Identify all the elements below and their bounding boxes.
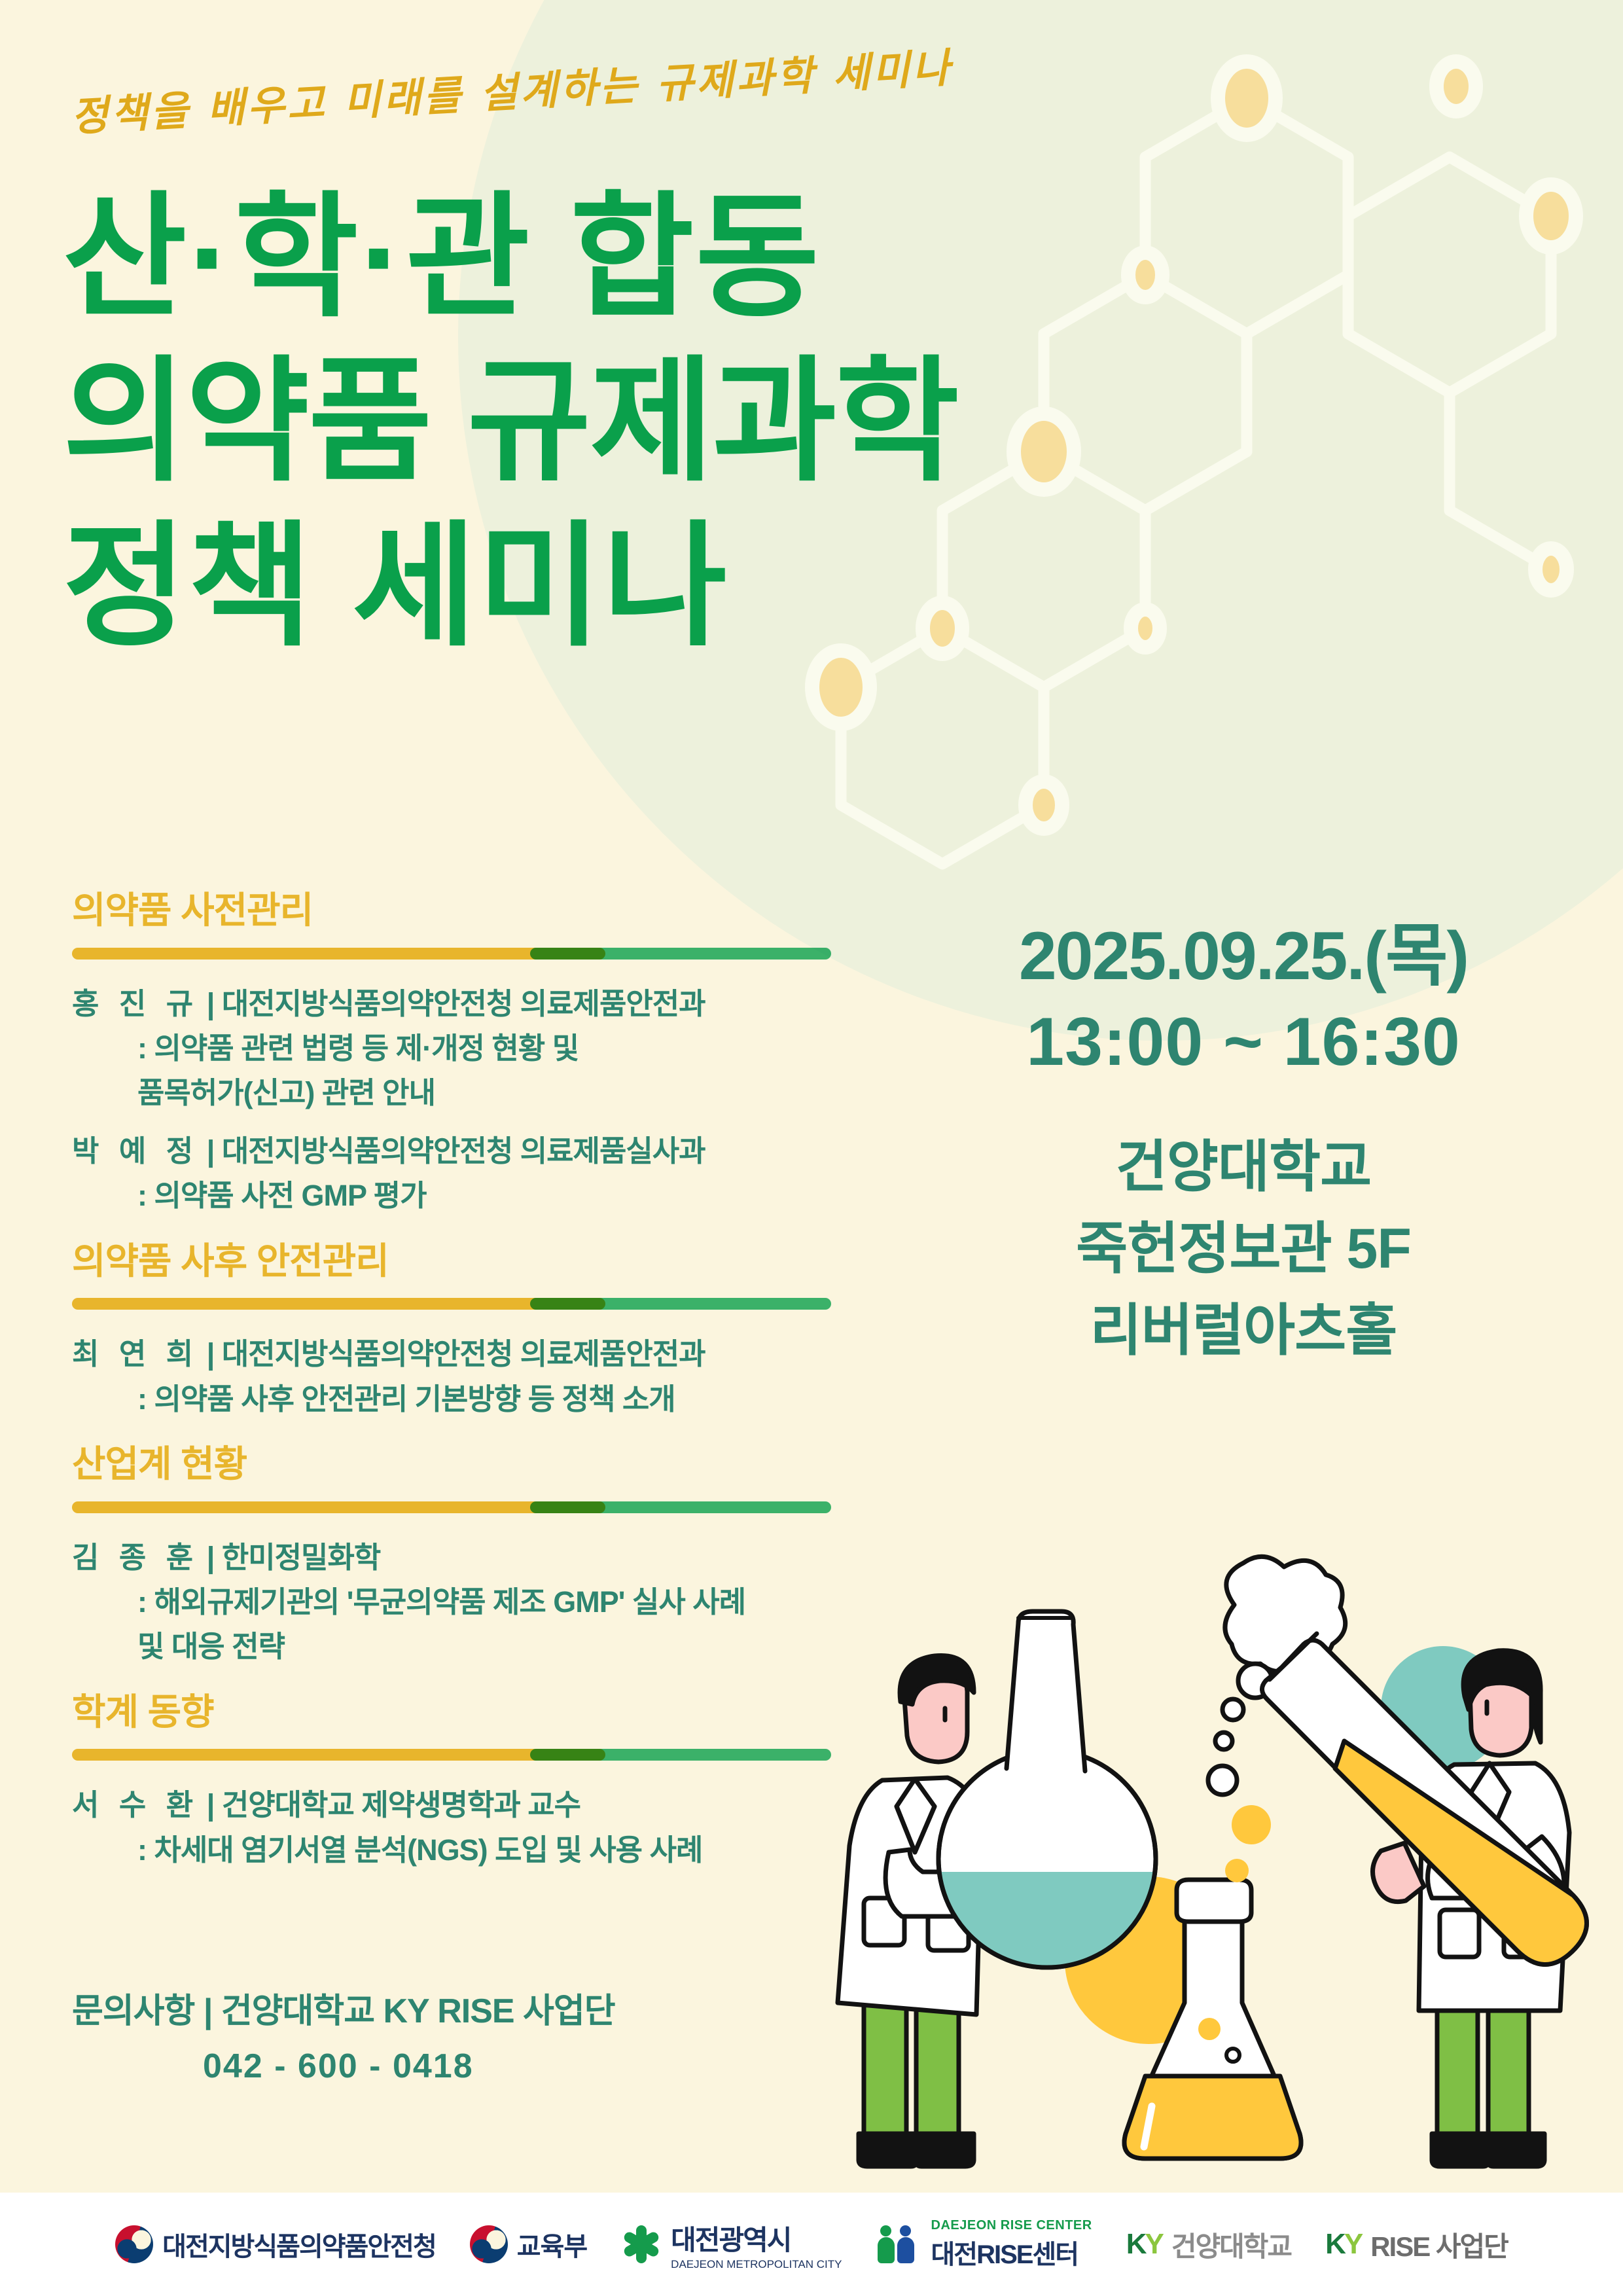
logo-kfda-label: 대전지방식품의약품안전청: [162, 2225, 436, 2263]
program-section-heading: 학계 동향: [72, 1692, 883, 1732]
program-section-heading: 산업계 현황: [72, 1444, 883, 1484]
logo-kfda: 대전지방식품의약품안전청: [115, 2225, 436, 2263]
contact-organization: 건양대학교 KY RISE 사업단: [221, 1992, 615, 2030]
program-talk: 박 예 정 | 대전지방식품의약안전청 의료제품실사과: 의약품 사전 GMP …: [72, 1129, 883, 1219]
venue-line-1: 건양대학교: [910, 1126, 1577, 1208]
talk-subject-line: : 의약품 사후 안전관리 기본방향 등 정책 소개: [72, 1377, 883, 1422]
footer-logo-bar: 대전지방식품의약품안전청 교육부 대전광역시 DAEJEON METROPOLI…: [0, 2193, 1623, 2296]
logo-ky-label: 건양대학교: [1171, 2225, 1291, 2265]
logo-konyang-university: KY 건양대학교: [1126, 2225, 1291, 2265]
ky-icon: KY: [1325, 2228, 1361, 2261]
venue-line-2: 죽헌정보관 5F: [910, 1208, 1577, 1290]
logo-daejeon-subtitle: DAEJEON METROPOLITAN CITY: [671, 2258, 842, 2271]
program-talk: 최 연 희 | 대전지방식품의약안전청 의료제품안전과: 의약품 사후 안전관리…: [72, 1332, 883, 1422]
logo-kyrise-label: RISE 사업단: [1370, 2225, 1508, 2265]
contact-separator: |: [204, 1992, 213, 2030]
talk-affiliation: 한미정밀화학: [222, 1541, 380, 1574]
talk-affiliation: 건양대학교 제약생명학과 교수: [222, 1788, 580, 1821]
program-section: 산업계 현황김 종 훈 | 한미정밀화학: 해외규제기관의 '무균의약품 제조 …: [72, 1444, 883, 1670]
talk-separator: |: [207, 1788, 215, 1821]
talk-speaker-line: 서 수 환 | 건양대학교 제약생명학과 교수: [72, 1783, 883, 1827]
logo-ky-rise-project: KY RISE 사업단: [1325, 2225, 1508, 2265]
talk-speaker-line: 최 연 희 | 대전지방식품의약안전청 의료제품안전과: [72, 1332, 883, 1376]
talk-subject-line: : 해외규제기관의 '무균의약품 제조 GMP' 실사 사례: [72, 1580, 883, 1624]
page-title: 산·학·관 합동 의약품 규제과학 정책 세미나: [63, 175, 958, 669]
event-venue: 건양대학교 죽헌정보관 5F 리버럴아츠홀: [910, 1126, 1577, 1371]
logo-rise-label: 대전RISE센터: [931, 2233, 1092, 2271]
poster-root: 정책을 배우고 미래를 설계하는 규제과학 세미나 산·학·관 합동 의약품 규…: [0, 0, 1623, 2296]
talk-separator: |: [207, 1337, 215, 1371]
talk-affiliation: 대전지방식품의약안전청 의료제품실사과: [222, 1134, 705, 1168]
program-section-heading: 의약품 사후 안전관리: [72, 1241, 883, 1282]
program-talk: 김 종 훈 | 한미정밀화학: 해외규제기관의 '무균의약품 제조 GMP' 실…: [72, 1535, 883, 1670]
talk-subject-line: : 의약품 사전 GMP 평가: [72, 1174, 883, 1218]
talk-speaker-name: 박 예 정: [72, 1134, 199, 1168]
talk-subject-line: 품목허가(신고) 관련 안내: [72, 1071, 883, 1115]
logo-daejeon-label: 대전광역시: [671, 2218, 842, 2258]
tagline: 정책을 배우고 미래를 설계하는 규제과학 세미나: [69, 35, 954, 143]
section-divider: [72, 1501, 831, 1513]
program-section: 의약품 사전관리홍 진 규 | 대전지방식품의약안전청 의료제품안전과: 의약품…: [72, 890, 883, 1219]
talk-affiliation: 대전지방식품의약안전청 의료제품안전과: [222, 1337, 705, 1371]
talk-affiliation: 대전지방식품의약안전청 의료제품안전과: [222, 987, 705, 1020]
logo-rise-subtitle: DAEJEON RISE CENTER: [931, 2218, 1092, 2233]
program-talk: 서 수 환 | 건양대학교 제약생명학과 교수: 차세대 염기서열 분석(NGS…: [72, 1783, 883, 1873]
program-list: 의약품 사전관리홍 진 규 | 대전지방식품의약안전청 의료제품안전과: 의약품…: [72, 890, 883, 1895]
section-divider: [72, 1749, 831, 1761]
taegeuk-icon: [470, 2225, 508, 2263]
logo-moe-label: 교육부: [517, 2225, 587, 2263]
logo-rise-text: DAEJEON RISE CENTER 대전RISE센터: [931, 2218, 1092, 2271]
title-line-3: 정책 세미나: [63, 505, 958, 669]
talk-separator: |: [207, 1541, 215, 1574]
taegeuk-icon: [115, 2225, 153, 2263]
talk-speaker-name: 서 수 환: [72, 1788, 199, 1821]
logo-moe: 교육부: [470, 2225, 587, 2263]
talk-speaker-line: 박 예 정 | 대전지방식품의약안전청 의료제품실사과: [72, 1129, 883, 1174]
talk-separator: |: [207, 987, 215, 1020]
talk-subject-line: : 차세대 염기서열 분석(NGS) 도입 및 사용 사례: [72, 1828, 883, 1873]
event-info: 2025.09.25.(목) 13:00 ~ 16:30 건양대학교 죽헌정보관…: [910, 916, 1577, 1372]
event-date: 2025.09.25.(목): [910, 916, 1577, 997]
rise-people-icon: [876, 2225, 922, 2263]
program-section: 의약품 사후 안전관리최 연 희 | 대전지방식품의약안전청 의료제품안전과: …: [72, 1241, 883, 1422]
talk-separator: |: [207, 1134, 215, 1168]
talk-speaker-name: 최 연 희: [72, 1337, 199, 1371]
venue-line-3: 리버럴아츠홀: [910, 1290, 1577, 1372]
laboratory-illustration: [818, 1545, 1623, 2173]
ky-icon: KY: [1126, 2228, 1162, 2261]
contact-line: 문의사항 | 건양대학교 KY RISE 사업단: [72, 1983, 615, 2032]
program-section: 학계 동향서 수 환 | 건양대학교 제약생명학과 교수: 차세대 염기서열 분…: [72, 1692, 883, 1873]
event-time: 13:00 ~ 16:30: [910, 1002, 1577, 1083]
talk-subject-line: 및 대응 전략: [72, 1624, 883, 1669]
talk-speaker-line: 홍 진 규 | 대전지방식품의약안전청 의료제품안전과: [72, 982, 883, 1026]
title-line-1: 산·학·관 합동: [63, 175, 958, 340]
talk-subject-line: : 의약품 관련 법령 등 제·개정 현황 및: [72, 1026, 883, 1071]
talk-speaker-line: 김 종 훈 | 한미정밀화학: [72, 1535, 883, 1580]
logo-daejeon: 대전광역시 DAEJEON METROPOLITAN CITY: [621, 2218, 842, 2271]
program-talk: 홍 진 규 | 대전지방식품의약안전청 의료제품안전과: 의약품 관련 법령 등…: [72, 982, 883, 1116]
daejeon-flower-icon: [621, 2224, 662, 2265]
contact-phone: 042 - 600 - 0418: [72, 2047, 615, 2086]
talk-speaker-name: 홍 진 규: [72, 987, 199, 1020]
section-divider: [72, 948, 831, 960]
contact-block: 문의사항 | 건양대학교 KY RISE 사업단 042 - 600 - 041…: [72, 1983, 615, 2086]
title-line-2: 의약품 규제과학: [63, 340, 958, 504]
logo-daejeon-rise-center: DAEJEON RISE CENTER 대전RISE센터: [876, 2218, 1092, 2271]
section-divider: [72, 1298, 831, 1310]
contact-label: 문의사항: [72, 1992, 194, 2030]
talk-speaker-name: 김 종 훈: [72, 1541, 199, 1574]
logo-daejeon-text: 대전광역시 DAEJEON METROPOLITAN CITY: [671, 2218, 842, 2271]
program-section-heading: 의약품 사전관리: [72, 890, 883, 931]
